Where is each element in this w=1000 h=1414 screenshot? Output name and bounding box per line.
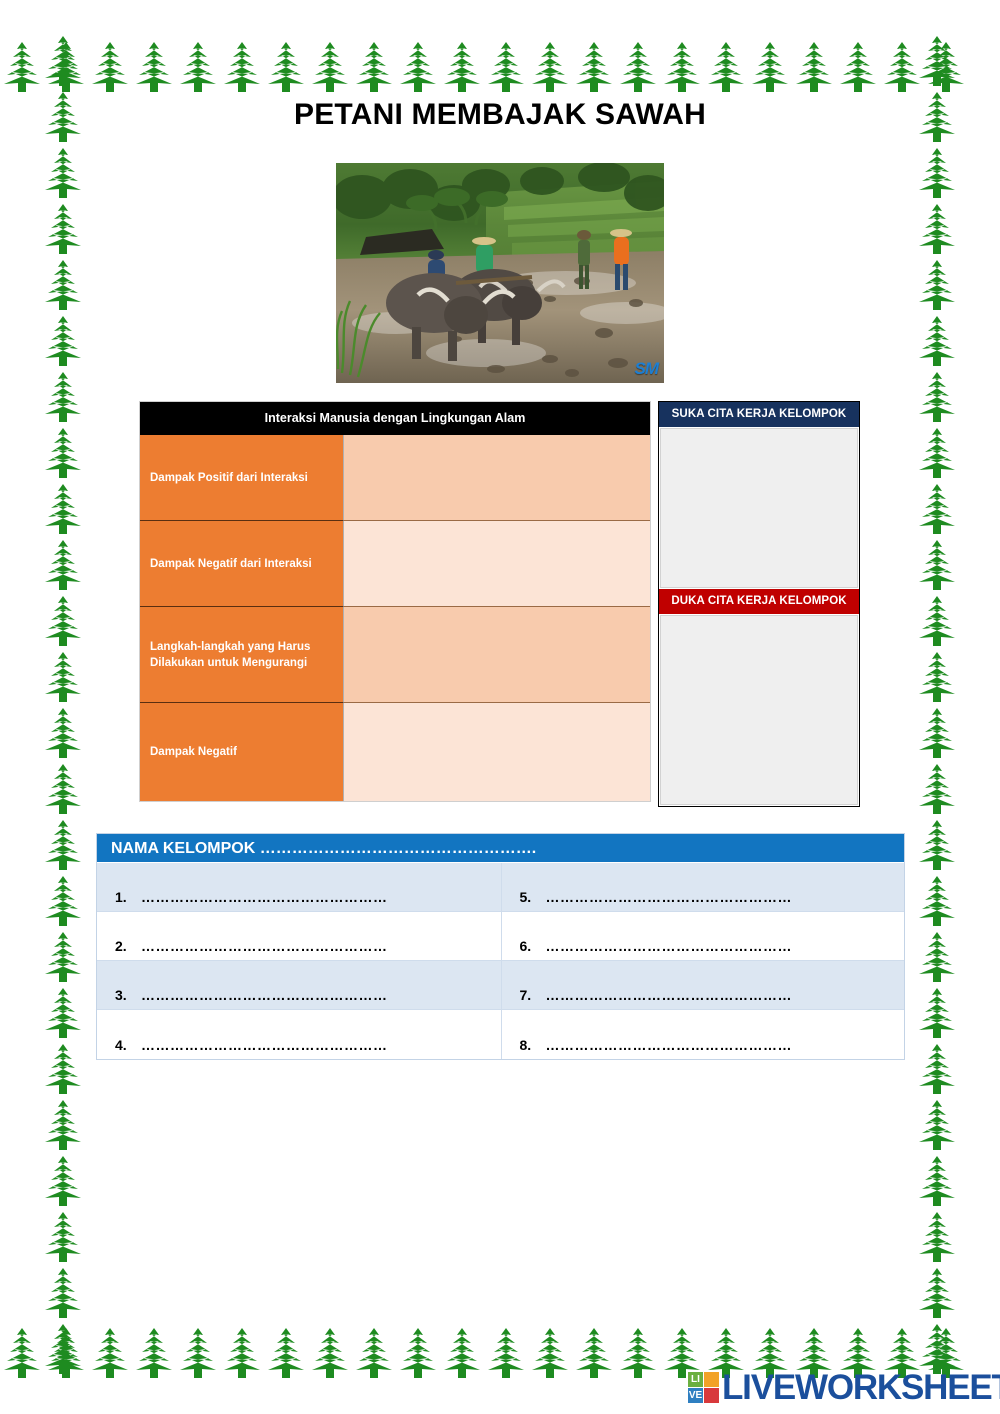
group-name-slot-1[interactable]: 1. …………………………………………… — [97, 863, 501, 912]
list-number-4: 4. — [115, 1037, 141, 1053]
group-names-block: NAMA KELOMPOK ……………………………………………. 1. …………… — [96, 833, 905, 1060]
list-number-3: 3. — [115, 987, 141, 1003]
logo-square-e — [704, 1388, 719, 1403]
group-row: 4. …………………………………………… 8. …………………………………………… — [97, 1010, 904, 1059]
group-names-header: NAMA KELOMPOK ……………………………………………. — [97, 834, 904, 863]
row-label-dampak-positif: Dampak Positif dari Interaksi — [140, 435, 344, 521]
list-number-7: 7. — [520, 987, 546, 1003]
answer-field-langkah-langkah[interactable] — [344, 607, 650, 703]
logo-square-ve: VE — [688, 1388, 703, 1403]
duka-cita-header: DUKA CITA KERJA KELOMPOK — [659, 589, 859, 614]
logo-square-i — [704, 1372, 719, 1387]
group-row: 3. …………………………………………… 7. …………………………………………… — [97, 961, 904, 1010]
list-number-1: 1. — [115, 889, 141, 905]
row-label-langkah-langkah: Langkah-langkah yang Harus Dilakukan unt… — [140, 607, 344, 703]
group-name-slot-6[interactable]: 6. …………………………………………… — [501, 912, 905, 961]
list-number-2: 2. — [115, 938, 141, 954]
group-name-slot-4[interactable]: 4. …………………………………………… — [97, 1010, 501, 1059]
list-number-8: 8. — [520, 1037, 546, 1053]
logo-square-li: LI — [688, 1372, 703, 1387]
logo-squares-icon: LI VE — [688, 1372, 719, 1403]
name-line-1: …………………………………………… — [141, 889, 388, 905]
group-row: 1. …………………………………………… 5. …………………………………………… — [97, 863, 904, 912]
name-line-6: …………………………………………… — [546, 938, 793, 954]
interaction-table-header: Interaksi Manusia dengan Lingkungan Alam — [140, 402, 650, 435]
answer-field-dampak-negatif-2[interactable] — [344, 703, 650, 801]
answer-field-dampak-negatif[interactable] — [344, 521, 650, 607]
worksheet-photo: SM — [336, 163, 664, 383]
photo-watermark: SM — [635, 359, 659, 379]
group-name-slot-2[interactable]: 2. …………………………………………… — [97, 912, 501, 961]
group-feelings-panel: SUKA CITA KERJA KELOMPOK DUKA CITA KERJA… — [658, 401, 860, 807]
table-row: Dampak Positif dari Interaksi — [140, 435, 650, 521]
brand-wordmark: LIVEWORKSHEETS — [722, 1370, 1000, 1405]
name-line-3: …………………………………………… — [141, 987, 388, 1003]
interaction-table: Interaksi Manusia dengan Lingkungan Alam… — [139, 401, 651, 802]
table-row: Langkah-langkah yang Harus Dilakukan unt… — [140, 607, 650, 703]
name-line-7: …………………………………………… — [546, 987, 793, 1003]
suka-cita-header: SUKA CITA KERJA KELOMPOK — [659, 402, 859, 427]
tree-border-top — [0, 34, 1000, 94]
name-line-2: …………………………………………… — [141, 938, 388, 954]
tree-border-left — [38, 34, 96, 1380]
duka-cita-field[interactable] — [660, 615, 858, 805]
group-name-slot-7[interactable]: 7. …………………………………………… — [501, 961, 905, 1010]
list-number-5: 5. — [520, 889, 546, 905]
name-line-4: …………………………………………… — [141, 1037, 388, 1053]
suka-cita-field[interactable] — [660, 428, 858, 588]
group-name-slot-8[interactable]: 8. …………………………………………… — [501, 1010, 905, 1059]
group-name-slot-5[interactable]: 5. …………………………………………… — [501, 863, 905, 912]
liveworksheets-logo[interactable]: LI VE LIVEWORKSHEETS — [688, 1370, 1000, 1405]
table-row: Dampak Negatif — [140, 703, 650, 801]
answer-field-dampak-positif[interactable] — [344, 435, 650, 521]
name-line-8: …………………………………………… — [546, 1037, 793, 1053]
group-name-slot-3[interactable]: 3. …………………………………………… — [97, 961, 501, 1010]
table-row: Dampak Negatif dari Interaksi — [140, 521, 650, 607]
row-label-dampak-negatif-2: Dampak Negatif — [140, 703, 344, 801]
list-number-6: 6. — [520, 938, 546, 954]
page-title: PETANI MEMBAJAK SAWAH — [0, 98, 1000, 132]
tree-border-right — [906, 34, 964, 1380]
name-line-5: …………………………………………… — [546, 889, 793, 905]
group-row: 2. …………………………………………… 6. …………………………………………… — [97, 912, 904, 961]
row-label-dampak-negatif: Dampak Negatif dari Interaksi — [140, 521, 344, 607]
worksheet-page: PETANI MEMBAJAK SAWAH — [0, 0, 1000, 1414]
